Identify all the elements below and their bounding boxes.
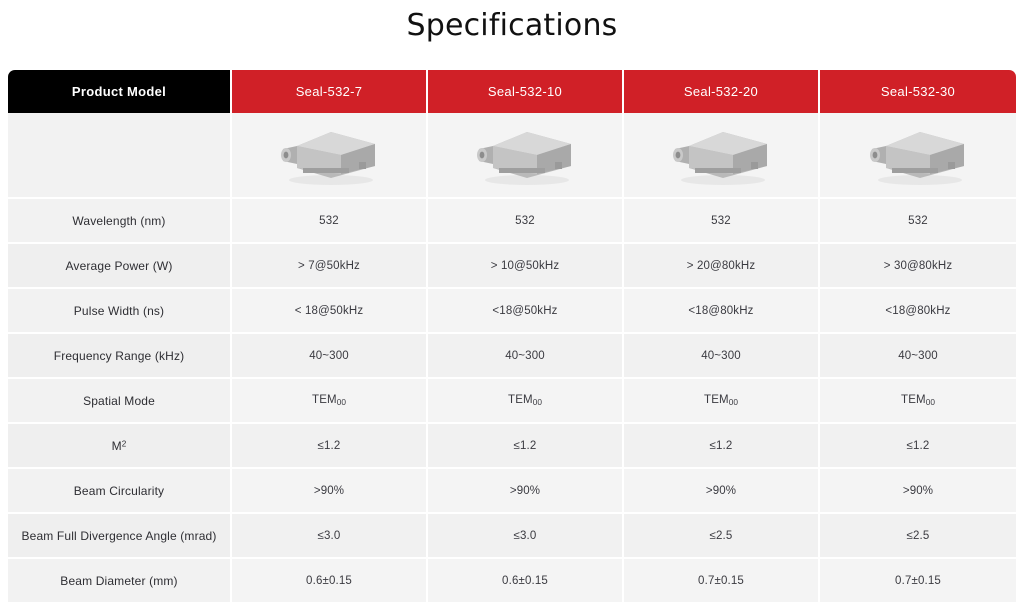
row-value: 0.6±0.15 xyxy=(428,559,624,604)
row-value: <18@80kHz xyxy=(820,289,1016,334)
row-label: Beam Circularity xyxy=(8,469,232,514)
laser-module-icon xyxy=(232,113,426,197)
row-value: ≤2.5 xyxy=(820,514,1016,559)
table-row: M2 ≤1.2 ≤1.2 ≤1.2 ≤1.2 xyxy=(8,424,1016,469)
table-body: Wavelength (nm) 532 532 532 532 Average … xyxy=(8,113,1016,604)
row-value: TEM00 xyxy=(232,379,428,424)
specifications-table-container: Product Model Seal-532-7 Seal-532-10 Sea… xyxy=(8,70,1016,604)
header-product-model: Product Model xyxy=(8,70,232,113)
row-value: >90% xyxy=(624,469,820,514)
laser-module-icon xyxy=(428,113,622,197)
row-value: 532 xyxy=(232,199,428,244)
row-value: > 10@50kHz xyxy=(428,244,624,289)
row-value: TEM00 xyxy=(820,379,1016,424)
specifications-table: Product Model Seal-532-7 Seal-532-10 Sea… xyxy=(8,70,1016,604)
product-image-cell-2 xyxy=(428,113,624,199)
table-row: Wavelength (nm) 532 532 532 532 xyxy=(8,199,1016,244)
row-label: Beam Full Divergence Angle (mrad) xyxy=(8,514,232,559)
table-header: Product Model Seal-532-7 Seal-532-10 Sea… xyxy=(8,70,1016,113)
row-label: Beam Diameter (mm) xyxy=(8,559,232,604)
table-row: Pulse Width (ns) < 18@50kHz <18@50kHz <1… xyxy=(8,289,1016,334)
row-label: Average Power (W) xyxy=(8,244,232,289)
row-value: ≤1.2 xyxy=(428,424,624,469)
row-value: > 30@80kHz xyxy=(820,244,1016,289)
row-value: ≤3.0 xyxy=(232,514,428,559)
image-row-label xyxy=(8,113,232,199)
row-value: < 18@50kHz xyxy=(232,289,428,334)
row-value: 40~300 xyxy=(624,334,820,379)
table-row: Beam Circularity >90% >90% >90% >90% xyxy=(8,469,1016,514)
row-value: <18@80kHz xyxy=(624,289,820,334)
row-value: 532 xyxy=(428,199,624,244)
product-image-cell-3 xyxy=(624,113,820,199)
table-row: Spatial Mode TEM00 TEM00 TEM00 TEM00 xyxy=(8,379,1016,424)
header-model-1: Seal-532-7 xyxy=(232,70,428,113)
row-value: 40~300 xyxy=(428,334,624,379)
header-model-3: Seal-532-20 xyxy=(624,70,820,113)
row-value: ≤1.2 xyxy=(624,424,820,469)
row-label: M2 xyxy=(8,424,232,469)
header-row: Product Model Seal-532-7 Seal-532-10 Sea… xyxy=(8,70,1016,113)
product-image-cell-4 xyxy=(820,113,1016,199)
row-value: TEM00 xyxy=(624,379,820,424)
row-label: Pulse Width (ns) xyxy=(8,289,232,334)
row-value: > 7@50kHz xyxy=(232,244,428,289)
row-value: 532 xyxy=(624,199,820,244)
row-value: 40~300 xyxy=(232,334,428,379)
row-label: Spatial Mode xyxy=(8,379,232,424)
header-model-4: Seal-532-30 xyxy=(820,70,1016,113)
row-label: Frequency Range (kHz) xyxy=(8,334,232,379)
row-label: Wavelength (nm) xyxy=(8,199,232,244)
product-image-cell-1 xyxy=(232,113,428,199)
table-row: Beam Full Divergence Angle (mrad) ≤3.0 ≤… xyxy=(8,514,1016,559)
laser-module-icon xyxy=(820,113,1016,197)
row-value: ≤1.2 xyxy=(820,424,1016,469)
row-value: 532 xyxy=(820,199,1016,244)
row-value: >90% xyxy=(428,469,624,514)
row-value: ≤3.0 xyxy=(428,514,624,559)
row-value: >90% xyxy=(232,469,428,514)
row-value: ≤2.5 xyxy=(624,514,820,559)
laser-module-icon xyxy=(624,113,818,197)
table-row-product-image xyxy=(8,113,1016,199)
page-title: Specifications xyxy=(0,0,1024,46)
table-row: Average Power (W) > 7@50kHz > 10@50kHz >… xyxy=(8,244,1016,289)
table-row: Frequency Range (kHz) 40~300 40~300 40~3… xyxy=(8,334,1016,379)
row-value: TEM00 xyxy=(428,379,624,424)
table-row: Beam Diameter (mm) 0.6±0.15 0.6±0.15 0.7… xyxy=(8,559,1016,604)
row-value: >90% xyxy=(820,469,1016,514)
row-value: 0.7±0.15 xyxy=(624,559,820,604)
row-value: <18@50kHz xyxy=(428,289,624,334)
row-value: 40~300 xyxy=(820,334,1016,379)
row-value: 0.7±0.15 xyxy=(820,559,1016,604)
row-value: 0.6±0.15 xyxy=(232,559,428,604)
row-value: > 20@80kHz xyxy=(624,244,820,289)
header-model-2: Seal-532-10 xyxy=(428,70,624,113)
row-value: ≤1.2 xyxy=(232,424,428,469)
